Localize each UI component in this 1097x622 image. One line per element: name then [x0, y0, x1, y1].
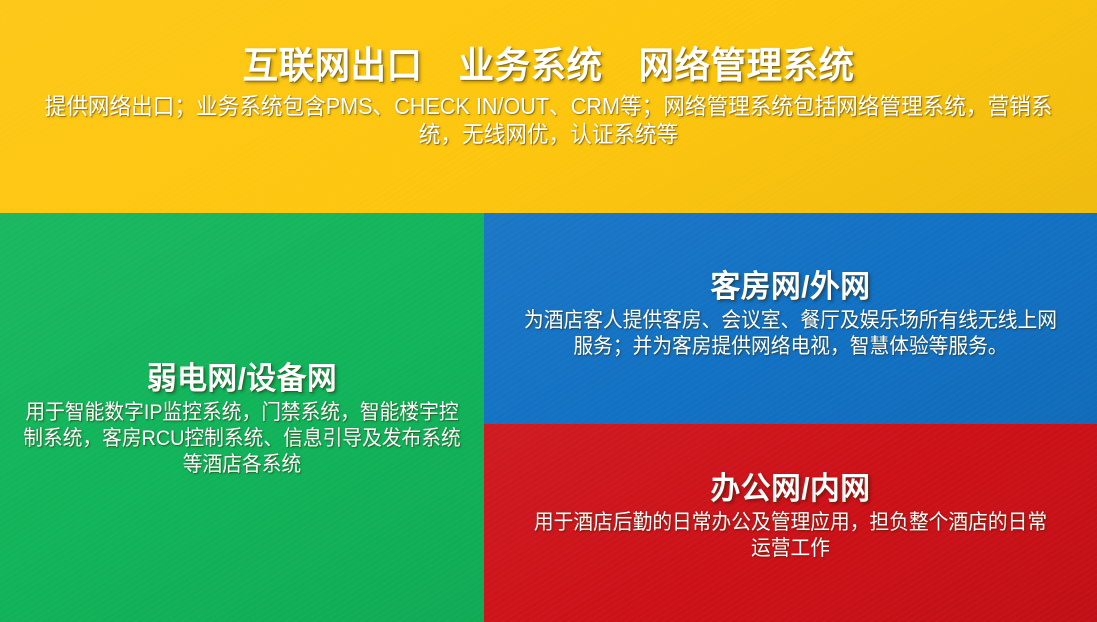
panel-internet-egress-business-network-management: 互联网出口 业务系统 网络管理系统 提供网络出口；业务系统包含PMS、CHECK… — [0, 0, 1097, 213]
panel-green-description: 用于智能数字IP监控系统，门禁系统，智能楼宇控制系统，客房RCU控制系统、信息引… — [15, 400, 470, 477]
panel-green-title: 弱电网/设备网 — [10, 362, 475, 395]
panel-guestroom-external-network: 客房网/外网 为酒店客人提供客房、会议室、餐厅及娱乐场所有线无线上网服务；并为客… — [484, 213, 1097, 424]
panel-red-title: 办公网/内网 — [496, 472, 1084, 505]
panel-blue-content: 客房网/外网 为酒店客人提供客房、会议室、餐厅及娱乐场所有线无线上网服务；并为客… — [484, 270, 1097, 360]
panel-red-content: 办公网/内网 用于酒店后勤的日常办公及管理应用，担负整个酒店的日常运营工作 — [484, 472, 1097, 562]
panel-green-content: 弱电网/设备网 用于智能数字IP监控系统，门禁系统，智能楼宇控制系统，客房RCU… — [0, 362, 484, 477]
panel-red-description: 用于酒店后勤的日常办公及管理应用，担负整个酒店的日常运营工作 — [502, 510, 1078, 561]
network-architecture-slide: 互联网出口 业务系统 网络管理系统 提供网络出口；业务系统包含PMS、CHECK… — [0, 0, 1097, 622]
panel-header-description: 提供网络出口；业务系统包含PMS、CHECK IN/OUT、CRM等；网络管理系… — [33, 92, 1064, 148]
panel-blue-description: 为酒店客人提供客房、会议室、餐厅及娱乐场所有线无线上网服务；并为客房提供网络电视… — [502, 308, 1078, 359]
panel-office-internal-network: 办公网/内网 用于酒店后勤的日常办公及管理应用，担负整个酒店的日常运营工作 — [484, 424, 1097, 622]
panel-header-content: 互联网出口 业务系统 网络管理系统 提供网络出口；业务系统包含PMS、CHECK… — [0, 46, 1097, 148]
panel-header-title: 互联网出口 业务系统 网络管理系统 — [22, 46, 1075, 86]
panel-blue-title: 客房网/外网 — [496, 270, 1084, 303]
panel-weak-current-device-network: 弱电网/设备网 用于智能数字IP监控系统，门禁系统，智能楼宇控制系统，客房RCU… — [0, 213, 484, 622]
